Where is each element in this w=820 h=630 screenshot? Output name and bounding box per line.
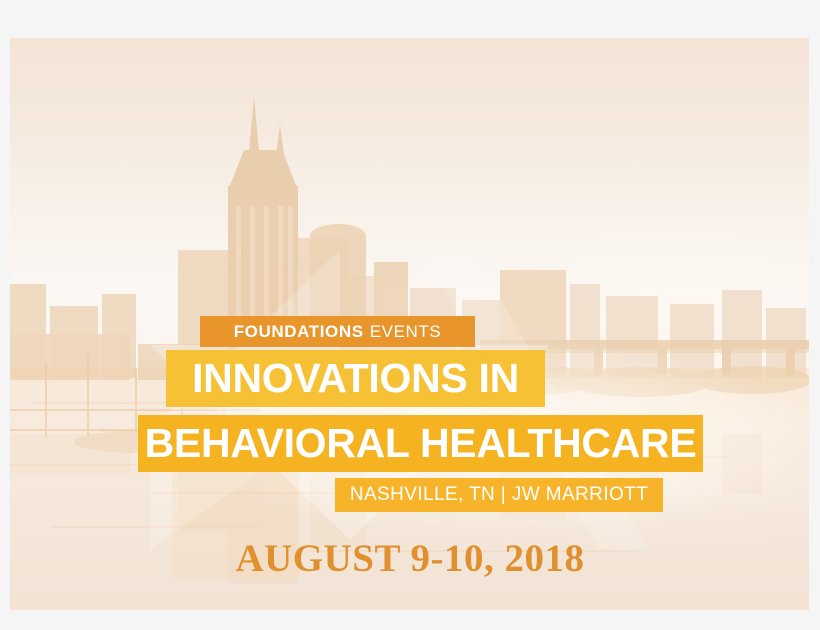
title-bar-line-2: BEHAVIORAL HEALTHCARE bbox=[138, 415, 703, 472]
event-title-lockup: FOUNDATIONS EVENTS INNOVATIONS IN BEHAVI… bbox=[0, 0, 820, 630]
eyebrow-suffix: EVENTS bbox=[370, 322, 442, 342]
banner-canvas: FOUNDATIONS EVENTS INNOVATIONS IN BEHAVI… bbox=[0, 0, 820, 630]
venue-bar: NASHVILLE, TN | JW MARRIOTT bbox=[335, 478, 663, 512]
venue-text: NASHVILLE, TN | JW MARRIOTT bbox=[350, 484, 648, 506]
title-line-1-text: INNOVATIONS IN bbox=[192, 355, 519, 402]
title-bar-line-1: INNOVATIONS IN bbox=[166, 350, 545, 407]
title-line-2-text: BEHAVIORAL HEALTHCARE bbox=[145, 420, 697, 467]
eyebrow-brand: FOUNDATIONS bbox=[234, 322, 364, 342]
event-date: AUGUST 9-10, 2018 bbox=[0, 536, 820, 581]
eyebrow-bar: FOUNDATIONS EVENTS bbox=[200, 316, 475, 347]
